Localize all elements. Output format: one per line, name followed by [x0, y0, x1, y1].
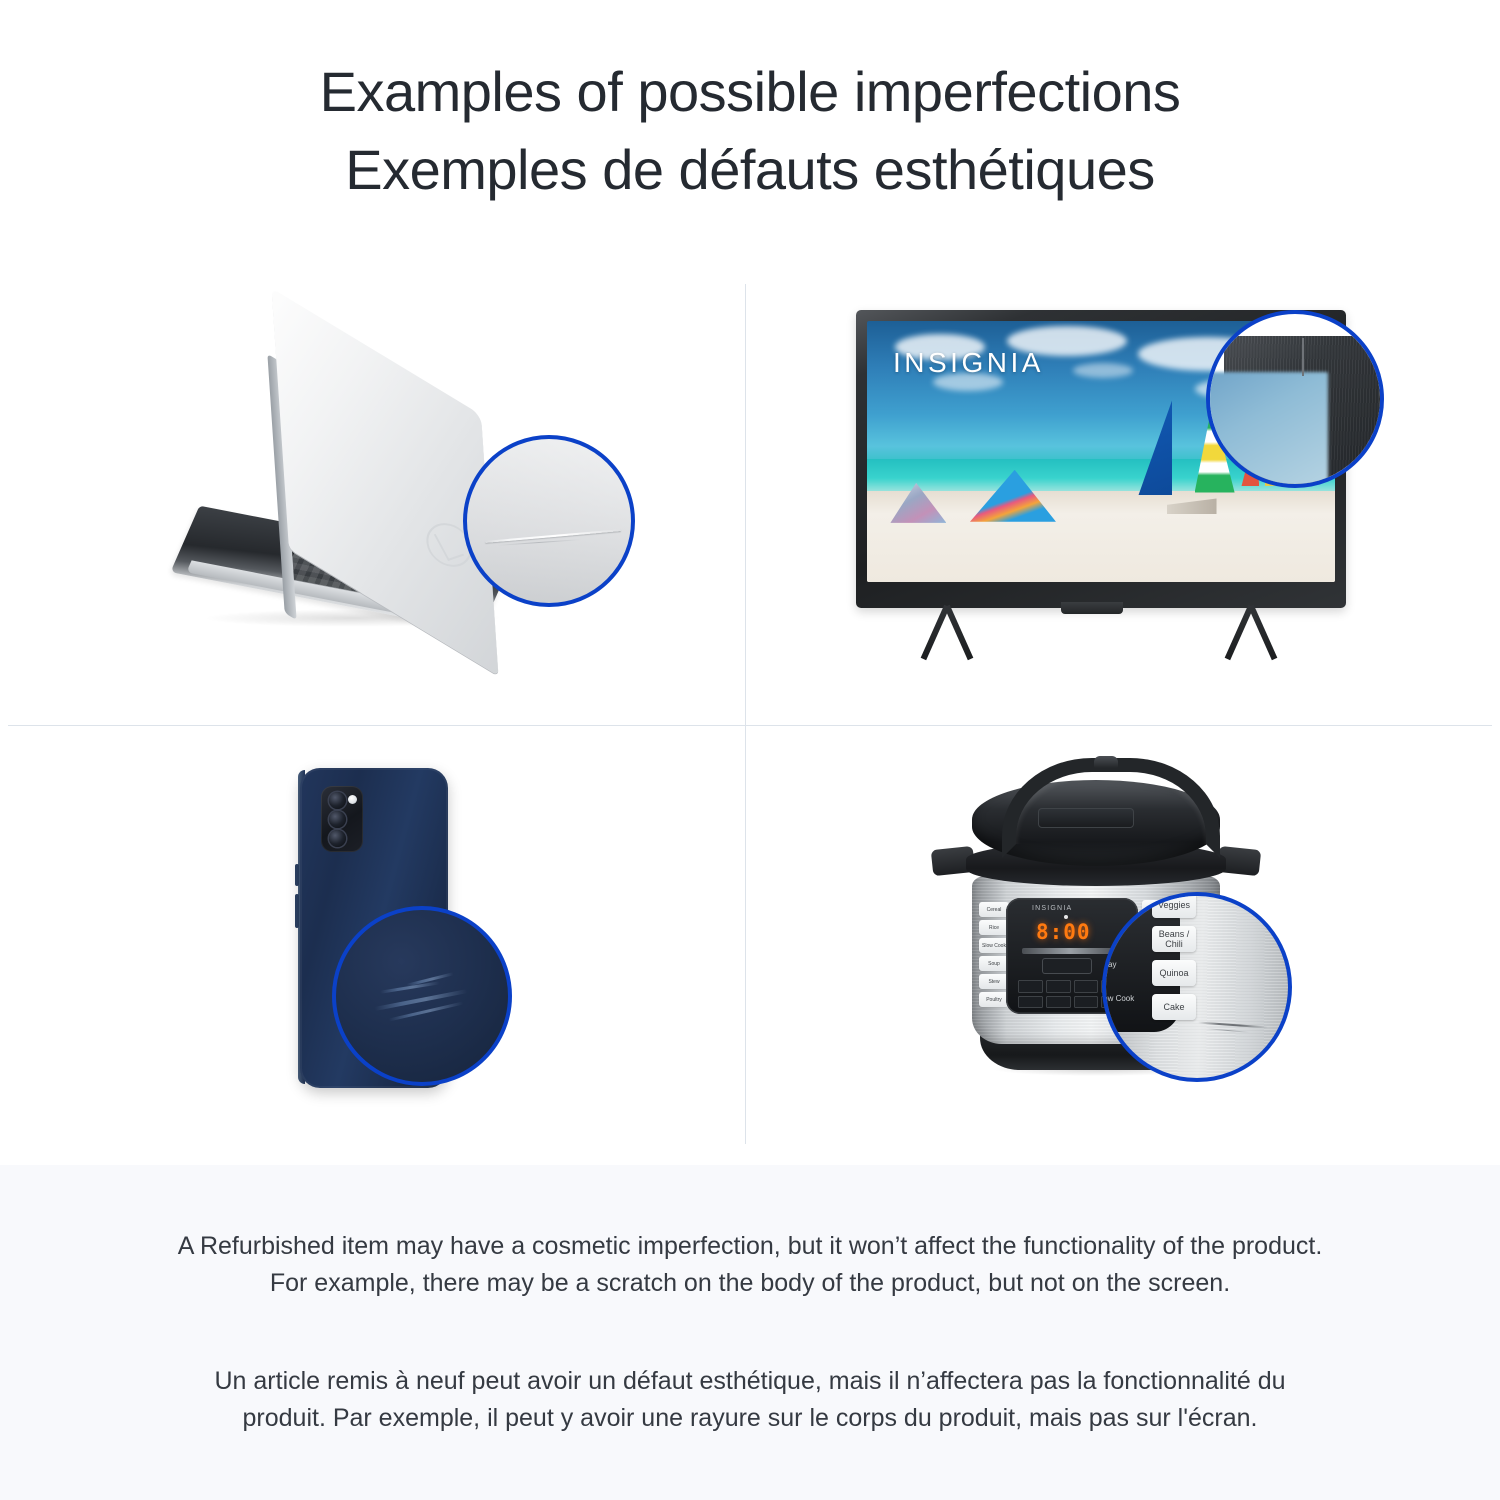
cloud-shape [1073, 363, 1133, 378]
page-header: Examples of possible imperfections Exemp… [0, 0, 1500, 262]
example-cell-phone [0, 726, 745, 1165]
cooker-button-column-left: Cereal Rice Slow Cook Soup Stew Poultry [979, 902, 1009, 1007]
keypad-key[interactable] [1074, 980, 1099, 993]
magnified-side-label: Slow Cook [1102, 994, 1134, 1003]
camera-flash-icon [348, 795, 357, 804]
keypad-key[interactable] [1046, 996, 1071, 1009]
tv-leg-right [1225, 605, 1254, 660]
camera-lens-icon [329, 792, 346, 809]
page-title-en: Examples of possible imperfections [320, 53, 1181, 131]
examples-grid: INSIGNIA [0, 262, 1500, 1165]
cooker-button[interactable]: Poultry [979, 992, 1009, 1007]
cooker-sub-display [1042, 958, 1092, 974]
magnified-cooker-button[interactable]: Cake [1152, 994, 1196, 1020]
footer-paragraph-en: A Refurbished item may have a cosmetic i… [170, 1228, 1330, 1302]
phone-power-button [295, 894, 299, 928]
camera-lens-icon [329, 811, 346, 828]
magnified-cooker-button[interactable]: Veggies [1152, 892, 1196, 918]
magnified-cooker-button[interactable]: Quinoa [1152, 960, 1196, 986]
tv-leg-right [1248, 605, 1277, 660]
scratch-mark-secondary [1206, 1028, 1250, 1033]
page-footer: A Refurbished item may have a cosmetic i… [0, 1165, 1500, 1500]
camera-lens-icon [329, 830, 346, 847]
cooker-brand-logo: INSIGNIA [1032, 905, 1072, 912]
keypad-key[interactable] [1018, 996, 1043, 1009]
refurbished-imperfections-infographic: Examples of possible imperfections Exemp… [0, 0, 1500, 1500]
keypad-key[interactable] [1046, 980, 1071, 993]
magnifier-circle-tv [1206, 310, 1384, 488]
pressure-valve-icon [1094, 756, 1118, 768]
pressure-cooker-illustration: Cereal Rice Slow Cook Soup Stew Poultry … [946, 756, 1306, 1126]
status-indicator-light [1064, 915, 1068, 919]
cooker-lid-handle [1002, 758, 1220, 858]
laptop-illustration [175, 357, 675, 677]
cooker-mode-strip [1022, 948, 1118, 954]
page-title-fr: Exemples de défauts esthétiques [345, 131, 1154, 209]
example-cell-tv: INSIGNIA [746, 262, 1500, 725]
magnified-screen-edge [1206, 372, 1328, 488]
cooker-timer-display: 8:00 [1036, 920, 1091, 944]
cooker-button[interactable]: Soup [979, 956, 1009, 971]
keypad-key[interactable] [1018, 980, 1043, 993]
magnifier-circle-pressure-cooker: Delay Slow Cook Veggies Beans / Chili Qu… [1102, 892, 1292, 1082]
bezel-seam-defect [1302, 338, 1304, 376]
cooker-button[interactable]: Rice [979, 920, 1009, 935]
magnifier-circle-laptop [463, 435, 635, 607]
keypad-key[interactable] [1074, 996, 1099, 1009]
beach-sand [867, 491, 1335, 582]
magnifier-circle-phone [332, 906, 512, 1086]
phone-volume-button [295, 864, 299, 886]
tv-brand-logo: INSIGNIA [893, 347, 1044, 379]
tv-leg-left [921, 605, 950, 660]
example-cell-laptop [0, 262, 745, 725]
cooker-button[interactable]: Cereal [979, 902, 1009, 917]
cooker-button[interactable]: Stew [979, 974, 1009, 989]
tv-center-mount [1061, 602, 1123, 614]
phone-illustration [250, 768, 500, 1128]
tv-illustration: INSIGNIA [856, 310, 1386, 690]
example-cell-pressure-cooker: Cereal Rice Slow Cook Soup Stew Poultry … [746, 726, 1500, 1165]
cooker-button[interactable]: Slow Cook [979, 938, 1009, 953]
magnified-cooker-button[interactable]: Beans / Chili [1152, 926, 1196, 952]
camera-module [321, 786, 363, 852]
scratch-mark-primary [1198, 1022, 1268, 1028]
footer-paragraph-fr: Un article remis à neuf peut avoir un dé… [170, 1363, 1330, 1437]
tv-leg-left [944, 605, 973, 660]
